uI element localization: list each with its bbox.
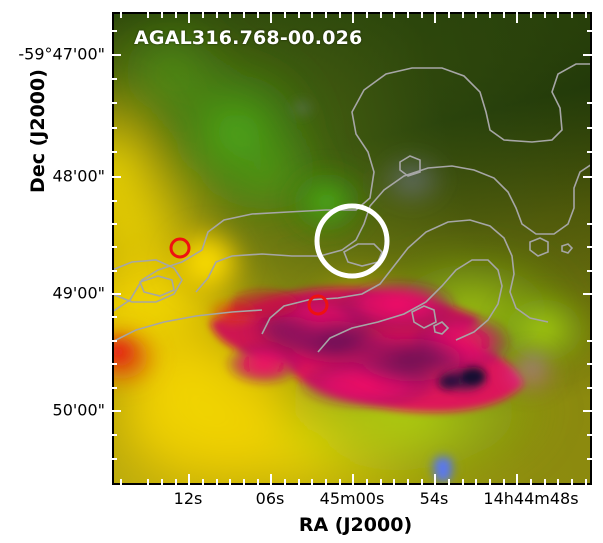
- x-tick-minor-top: [202, 12, 204, 18]
- y-tick-minor-right: [587, 151, 592, 153]
- rgb-composite-image: [112, 12, 592, 485]
- y-tick-minor: [112, 151, 117, 153]
- page-title: AGAL316.768-00.026: [134, 27, 362, 49]
- y-tick-minor: [112, 102, 117, 104]
- x-tick-minor: [475, 479, 477, 485]
- x-tick-minor: [571, 479, 573, 485]
- y-tick-minor: [112, 363, 117, 365]
- y-tick-minor-right: [587, 246, 592, 248]
- x-tick-minor-top: [489, 12, 491, 18]
- x-tick-major-top: [516, 12, 518, 23]
- x-tick-label: 06s: [256, 489, 285, 508]
- y-tick-minor: [112, 78, 117, 80]
- y-tick-minor-right: [587, 223, 592, 225]
- y-tick-label: -59°47'00": [0, 45, 105, 64]
- y-tick-major-right: [583, 410, 592, 412]
- x-tick-minor-top: [147, 12, 149, 18]
- x-tick-minor: [557, 479, 559, 485]
- x-tick-minor: [489, 479, 491, 485]
- y-axis-title: Dec (J2000): [27, 1, 49, 261]
- x-tick-minor: [393, 479, 395, 485]
- y-tick-major-right: [583, 293, 592, 295]
- x-tick-minor: [503, 479, 505, 485]
- x-tick-minor: [366, 479, 368, 485]
- x-tick-minor: [161, 479, 163, 485]
- y-tick-minor: [112, 340, 117, 342]
- y-tick-minor: [112, 387, 117, 389]
- x-tick-minor: [257, 479, 259, 485]
- y-tick-minor-right: [587, 270, 592, 272]
- y-tick-minor-right: [587, 458, 592, 460]
- x-tick-minor-top: [407, 12, 409, 18]
- x-tick-minor-top: [448, 12, 450, 18]
- x-tick-minor: [407, 479, 409, 485]
- x-tick-label: 45m00s: [320, 489, 385, 508]
- x-tick-minor: [175, 479, 177, 485]
- x-tick-minor: [202, 479, 204, 485]
- image-plot-area[interactable]: [112, 12, 592, 485]
- x-tick-minor: [284, 479, 286, 485]
- x-tick-minor: [229, 479, 231, 485]
- y-tick-minor: [112, 270, 117, 272]
- x-tick-minor-top: [257, 12, 259, 18]
- y-tick-major-right: [583, 54, 592, 56]
- y-tick-label: 48'00": [0, 167, 105, 186]
- x-tick-minor: [380, 479, 382, 485]
- x-tick-minor: [448, 479, 450, 485]
- x-tick-minor-top: [571, 12, 573, 18]
- x-tick-minor-top: [339, 12, 341, 18]
- x-tick-minor-top: [421, 12, 423, 18]
- x-tick-minor: [544, 479, 546, 485]
- y-tick-minor: [112, 30, 117, 32]
- y-tick-major: [112, 54, 121, 56]
- x-tick-minor-top: [284, 12, 286, 18]
- x-tick-minor-top: [544, 12, 546, 18]
- x-tick-minor-top: [325, 12, 327, 18]
- y-tick-minor: [112, 458, 117, 460]
- y-tick-minor: [112, 223, 117, 225]
- x-tick-minor-top: [120, 12, 122, 18]
- y-tick-minor: [112, 434, 117, 436]
- x-tick-minor: [462, 479, 464, 485]
- y-tick-major-right: [583, 176, 592, 178]
- figure-panel: AGAL316.768-00.026: [0, 0, 603, 543]
- x-tick-minor: [147, 479, 149, 485]
- x-tick-minor-top: [503, 12, 505, 18]
- x-tick-minor-top: [175, 12, 177, 18]
- x-tick-minor: [311, 479, 313, 485]
- y-tick-major: [112, 176, 121, 178]
- y-tick-label: 50'00": [0, 401, 105, 420]
- x-tick-minor: [530, 479, 532, 485]
- x-tick-label: 12s: [174, 489, 203, 508]
- y-tick-major: [112, 293, 121, 295]
- y-tick-minor: [112, 316, 117, 318]
- x-tick-major: [434, 474, 436, 485]
- x-tick-minor-top: [475, 12, 477, 18]
- x-tick-minor-top: [229, 12, 231, 18]
- x-tick-minor-top: [366, 12, 368, 18]
- x-tick-major-top: [434, 12, 436, 23]
- x-tick-minor: [585, 479, 587, 485]
- y-tick-major: [112, 410, 121, 412]
- y-tick-minor-right: [587, 387, 592, 389]
- x-tick-minor-top: [380, 12, 382, 18]
- y-tick-minor: [112, 200, 117, 202]
- x-tick-minor-top: [585, 12, 587, 18]
- x-tick-minor-top: [243, 12, 245, 18]
- x-tick-label: 54s: [420, 489, 449, 508]
- y-tick-minor-right: [587, 127, 592, 129]
- y-tick-minor-right: [587, 363, 592, 365]
- y-tick-minor-right: [587, 30, 592, 32]
- x-tick-minor: [325, 479, 327, 485]
- x-tick-major-top: [352, 12, 354, 23]
- y-tick-minor-right: [587, 340, 592, 342]
- x-tick-minor: [298, 479, 300, 485]
- x-tick-major-top: [270, 12, 272, 23]
- y-tick-minor-right: [587, 102, 592, 104]
- x-tick-label: 14h44m48s: [483, 489, 578, 508]
- y-tick-minor: [112, 246, 117, 248]
- x-tick-major: [516, 474, 518, 485]
- x-tick-major: [188, 474, 190, 485]
- x-tick-minor-top: [298, 12, 300, 18]
- y-tick-label: 49'00": [0, 284, 105, 303]
- x-tick-minor-top: [393, 12, 395, 18]
- x-tick-minor-top: [161, 12, 163, 18]
- x-tick-minor: [339, 479, 341, 485]
- x-tick-minor-top: [462, 12, 464, 18]
- x-tick-major-top: [188, 12, 190, 23]
- x-tick-major: [270, 474, 272, 485]
- x-tick-minor: [421, 479, 423, 485]
- x-tick-minor-top: [557, 12, 559, 18]
- x-tick-minor-top: [216, 12, 218, 18]
- y-tick-minor: [112, 127, 117, 129]
- x-axis-title: RA (J2000): [0, 514, 603, 536]
- x-tick-major: [352, 474, 354, 485]
- x-tick-minor: [120, 479, 122, 485]
- x-tick-minor: [216, 479, 218, 485]
- y-tick-minor-right: [587, 434, 592, 436]
- x-tick-minor-top: [530, 12, 532, 18]
- x-tick-minor-top: [311, 12, 313, 18]
- x-tick-minor: [243, 479, 245, 485]
